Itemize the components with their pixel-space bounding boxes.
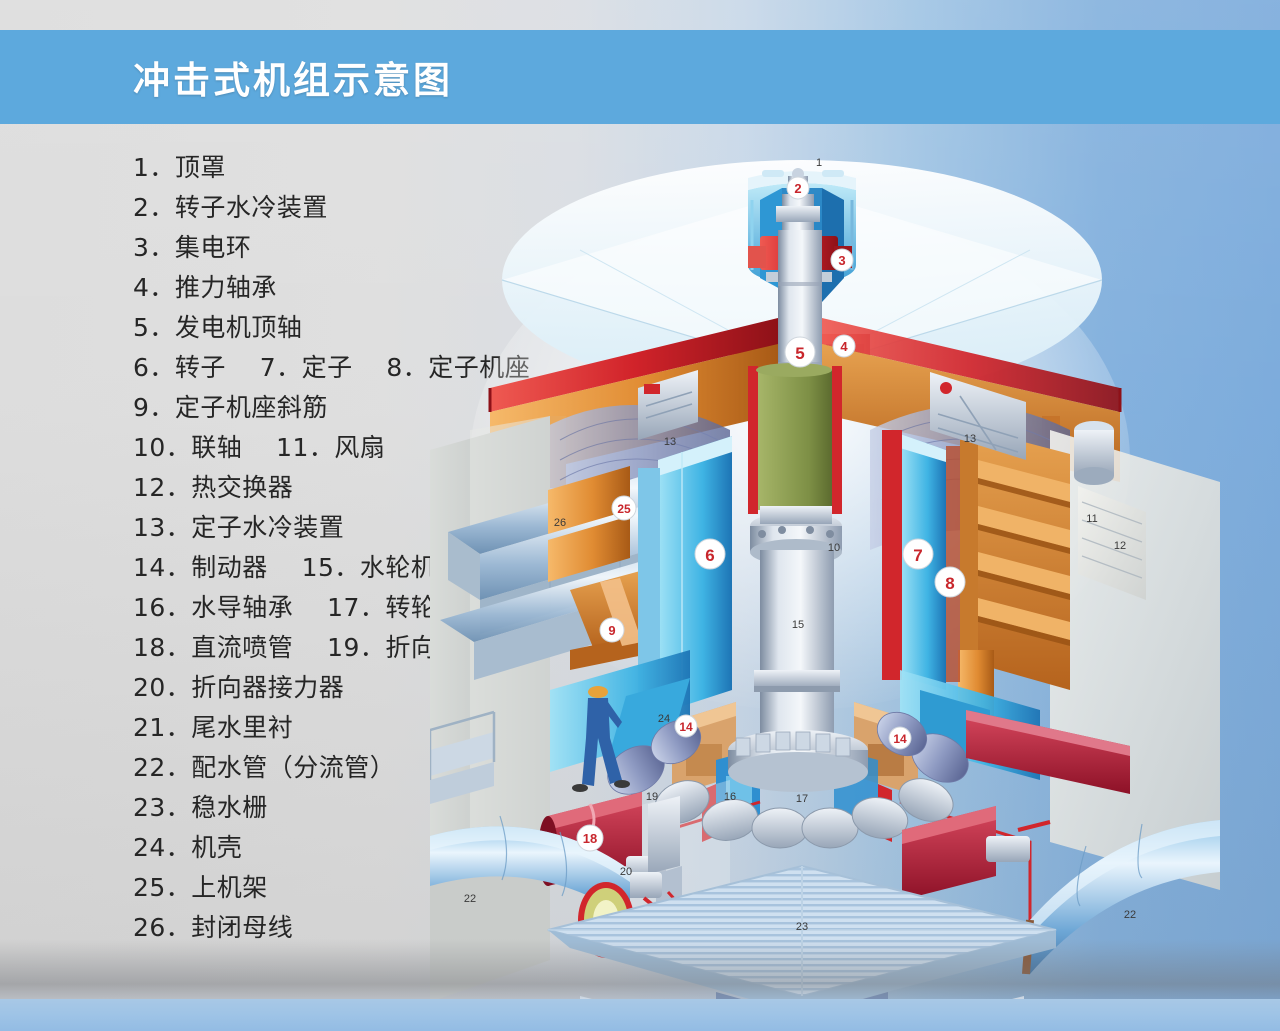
turbine-shaft — [754, 550, 840, 750]
svg-text:4: 4 — [840, 339, 848, 354]
slide-root: 冲击式机组示意图 1．顶罩 2．转子水冷装置 3．集电环 4．推力轴承 5．发电… — [0, 0, 1280, 1031]
svg-text:2: 2 — [794, 181, 801, 196]
callout-23: 23 — [796, 921, 808, 933]
callout-badge-8: 8 — [935, 567, 965, 597]
svg-text:18: 18 — [583, 831, 597, 846]
svg-text:14: 14 — [893, 732, 907, 746]
machine-cutaway-illustration: 1 26 10 12 15 11 13 13 24 17 19 20 22 22… — [430, 130, 1220, 1031]
callout-badge-3: 3 — [831, 249, 853, 271]
callout-20: 20 — [620, 866, 632, 878]
svg-text:9: 9 — [608, 623, 615, 638]
svg-text:7: 7 — [913, 546, 922, 565]
svg-text:6: 6 — [705, 546, 714, 565]
callout-13-left: 13 — [664, 436, 676, 448]
bottom-band — [0, 999, 1280, 1031]
callout-1: 1 — [816, 157, 822, 169]
svg-text:5: 5 — [795, 344, 804, 363]
callout-26: 26 — [554, 517, 566, 529]
title-bar: 冲击式机组示意图 — [0, 30, 1280, 124]
callout-11: 11 — [1086, 513, 1097, 525]
bottom-fade — [0, 939, 1280, 999]
callout-22-right: 22 — [1124, 909, 1136, 921]
callout-badge-7: 7 — [903, 539, 933, 569]
callout-22-left: 22 — [464, 893, 476, 905]
callout-12: 12 — [1114, 540, 1126, 552]
svg-text:25: 25 — [617, 502, 631, 516]
svg-text:14: 14 — [679, 720, 693, 734]
callout-badge-5: 5 — [785, 337, 815, 367]
page-title: 冲击式机组示意图 — [133, 50, 453, 104]
callout-badge-14-left: 14 — [675, 715, 697, 737]
fan — [1074, 421, 1114, 485]
callout-16: 16 — [724, 791, 736, 803]
rotor-core — [748, 363, 842, 514]
callout-24: 24 — [658, 713, 670, 725]
callout-10: 10 — [828, 542, 840, 554]
callout-badge-14-right: 14 — [889, 727, 911, 749]
callout-19: 19 — [646, 791, 658, 803]
svg-text:8: 8 — [945, 574, 954, 593]
callout-13-right: 13 — [964, 433, 976, 445]
callout-badge-2: 2 — [787, 177, 809, 199]
callout-badge-25: 25 — [612, 496, 636, 520]
callout-badge-9: 9 — [600, 618, 624, 642]
callout-17: 17 — [796, 793, 808, 805]
callout-badge-18: 18 — [577, 825, 603, 851]
callout-badge-6: 6 — [695, 539, 725, 569]
svg-text:3: 3 — [838, 253, 845, 268]
callout-badge-4: 4 — [833, 335, 855, 357]
callout-15: 15 — [792, 619, 804, 631]
